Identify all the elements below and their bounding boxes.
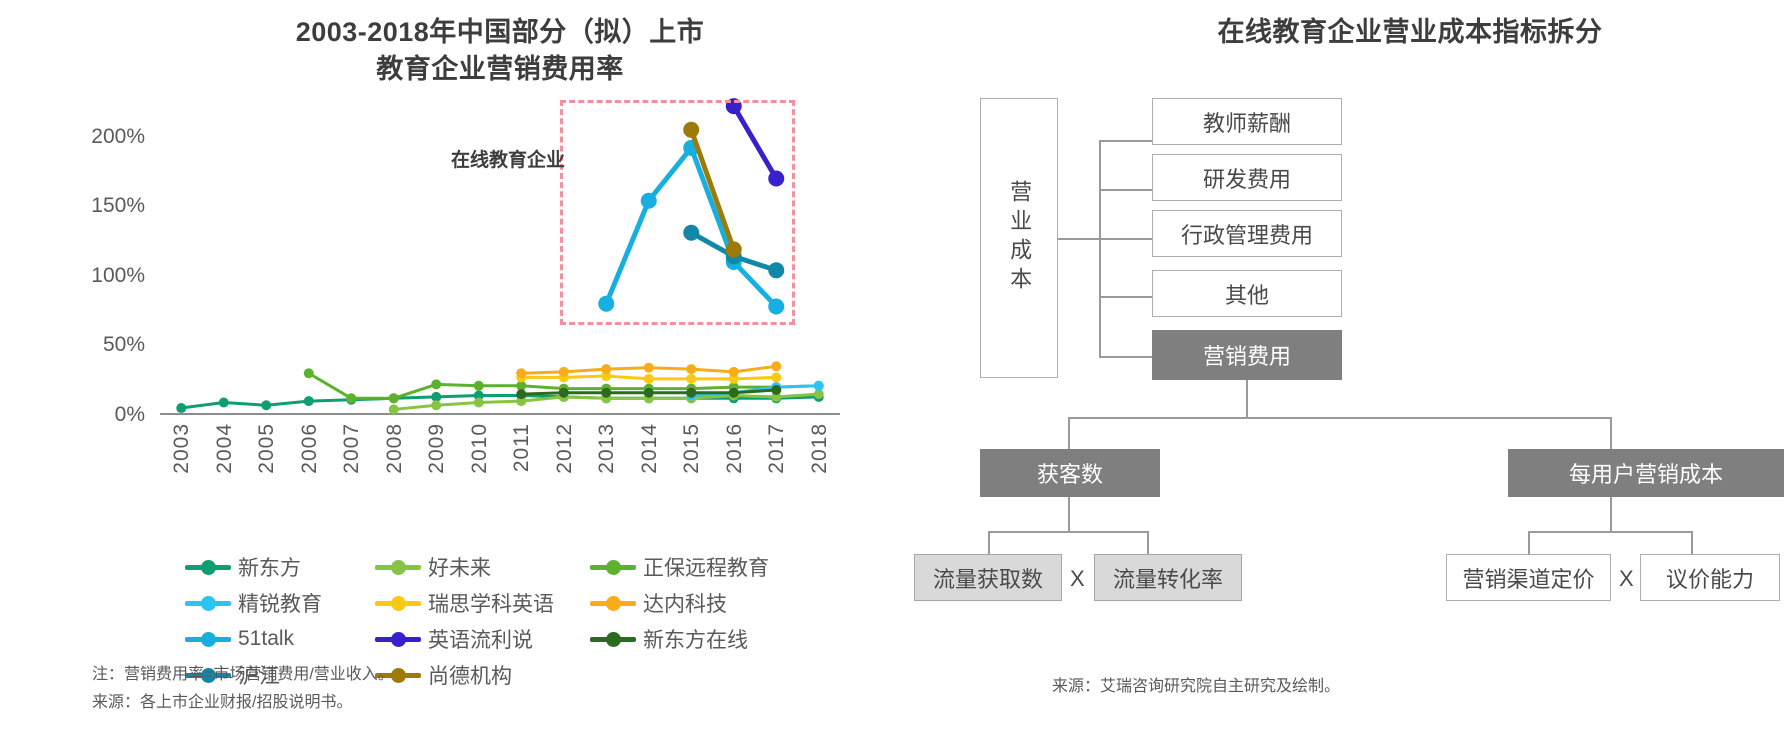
connector-root-vertical — [1099, 140, 1101, 356]
y-axis-tick: 200% — [35, 125, 145, 149]
y-axis-tick: 50% — [35, 333, 145, 357]
connector-level3-r1-down — [1528, 531, 1530, 555]
x-axis-tick: 2007 — [340, 423, 364, 474]
connector-customer-down — [1068, 497, 1070, 532]
connector-level2-left-down — [1068, 417, 1070, 450]
legend-marker-icon — [590, 595, 636, 611]
legend-item-0[interactable]: 新东方 — [185, 552, 375, 581]
right-diagram-title: 在线教育企业营业成本指标拆分 — [1160, 14, 1660, 51]
x-axis-tick: 2014 — [638, 423, 662, 474]
legend-label: 好未来 — [428, 552, 491, 582]
connector-child-4 — [1099, 296, 1153, 298]
connector-level3-r2-down — [1691, 531, 1693, 555]
x-axis-tick: 2011 — [510, 423, 534, 472]
legend-item-1[interactable]: 好未来 — [375, 552, 590, 581]
cost-breakdown-panel: 在线教育企业营业成本指标拆分 营业成本 教师薪酬 研发费用 行政管理费用 其他 … — [980, 0, 1786, 756]
legend-item-4[interactable]: 瑞思学科英语 — [375, 588, 590, 617]
online-education-highlight-box — [560, 100, 795, 325]
x-axis-tick: 2003 — [170, 423, 194, 474]
legend-label: 正保远程教育 — [643, 552, 769, 582]
marketing-expense-chart-panel: 2003-2018年中国部分（拟）上市 教育企业营销费用率 0%50%100%1… — [0, 0, 980, 756]
diagram-root-box: 营业成本 — [980, 98, 1058, 378]
legend-marker-icon — [375, 559, 421, 575]
legend-item-8[interactable]: 新东方在线 — [590, 624, 825, 653]
connector-level3-left-bus — [988, 531, 1148, 533]
x-axis-tick: 2009 — [425, 423, 449, 474]
connector-level2-bus — [1068, 417, 1612, 419]
diagram-box-admin-expense: 行政管理费用 — [1152, 210, 1342, 257]
y-axis-tick: 150% — [35, 194, 145, 218]
diagram-box-customer-count: 获客数 — [980, 449, 1160, 497]
x-axis-tick: 2015 — [680, 423, 704, 474]
x-axis-tick: 2017 — [765, 423, 789, 474]
legend-marker-icon — [185, 595, 231, 611]
left-note-definition: 注：营销费用率=市场营销费用/营业收入。 — [92, 660, 394, 684]
legend-label: 达内科技 — [643, 588, 727, 618]
left-chart-title-line2: 教育企业营销费用率 — [150, 51, 850, 88]
connector-child-3 — [1099, 238, 1153, 240]
connector-level2-right-down — [1610, 417, 1612, 450]
legend-marker-icon — [590, 559, 636, 575]
x-axis-tick: 2018 — [808, 423, 832, 474]
diagram-box-teacher-salary: 教师薪酬 — [1152, 98, 1342, 145]
x-axis-tick: 2016 — [723, 423, 747, 474]
diagram-box-rnd-expense: 研发费用 — [1152, 154, 1342, 201]
legend-item-10[interactable]: 尚德机构 — [375, 660, 590, 689]
online-education-annotation: 在线教育企业 — [425, 145, 565, 172]
diagram-box-traffic-acquired: 流量获取数 — [914, 554, 1062, 601]
legend-label: 精锐教育 — [238, 588, 322, 618]
connector-marketing-down — [1246, 380, 1248, 418]
legend-marker-icon — [185, 559, 231, 575]
legend-item-7[interactable]: 英语流利说 — [375, 624, 590, 653]
left-chart-title: 2003-2018年中国部分（拟）上市 教育企业营销费用率 — [150, 14, 850, 89]
x-axis-tick: 2006 — [298, 423, 322, 474]
x-axis-tick: 2004 — [213, 423, 237, 474]
x-axis-tick: 2005 — [255, 423, 279, 474]
connector-child-5 — [1099, 356, 1153, 358]
legend-item-6[interactable]: 51talk — [185, 624, 375, 653]
legend-item-5[interactable]: 达内科技 — [590, 588, 825, 617]
connector-child-1 — [1099, 140, 1153, 142]
cost-breakdown-diagram: 营业成本 教师薪酬 研发费用 行政管理费用 其他 营销费用 获客数 每用户营销成… — [980, 70, 1786, 630]
x-axis-tick: 2010 — [468, 423, 492, 474]
legend-marker-icon — [185, 631, 231, 647]
x-axis-tick-labels: 2003200420052006200720082009201020112012… — [160, 415, 840, 505]
left-chart-title-line1: 2003-2018年中国部分（拟）上市 — [150, 14, 850, 51]
right-note-source: 来源：艾瑞咨询研究院自主研究及绘制。 — [1052, 672, 1340, 696]
diagram-box-marketing-expense: 营销费用 — [1152, 330, 1342, 380]
legend-label: 尚德机构 — [428, 660, 512, 690]
legend-label: 51talk — [238, 627, 294, 651]
x-axis-tick: 2008 — [383, 423, 407, 474]
connector-level3-l1-down — [988, 531, 990, 555]
operator-multiply-left: X — [1070, 566, 1085, 592]
x-axis-tick: 2012 — [553, 423, 577, 474]
left-note-source: 来源：各上市企业财报/招股说明书。 — [92, 688, 352, 712]
line-chart-plot-area: 0%50%100%150%200% 2003200420052006200720… — [160, 95, 840, 415]
diagram-box-other: 其他 — [1152, 270, 1342, 317]
diagram-box-cost-per-user: 每用户营销成本 — [1508, 449, 1784, 497]
y-axis-tick: 100% — [35, 264, 145, 288]
y-axis-tick: 0% — [35, 403, 145, 427]
x-axis-tick: 2013 — [595, 423, 619, 474]
operator-multiply-right: X — [1619, 566, 1634, 592]
legend-marker-icon — [375, 595, 421, 611]
legend-marker-icon — [590, 631, 636, 647]
connector-level3-l2-down — [1147, 531, 1149, 555]
legend-marker-icon — [375, 631, 421, 647]
legend-item-2[interactable]: 正保远程教育 — [590, 552, 825, 581]
legend-label: 新东方 — [238, 552, 301, 582]
legend-label: 英语流利说 — [428, 624, 533, 654]
connector-child-2 — [1099, 189, 1153, 191]
legend-label: 新东方在线 — [643, 624, 748, 654]
diagram-box-channel-pricing: 营销渠道定价 — [1446, 554, 1611, 601]
connector-level3-right-bus — [1528, 531, 1692, 533]
diagram-box-traffic-conversion: 流量转化率 — [1094, 554, 1242, 601]
connector-root-horizontal — [1058, 238, 1100, 240]
connector-costperuser-down — [1610, 497, 1612, 532]
legend-label: 瑞思学科英语 — [428, 588, 554, 618]
legend-item-3[interactable]: 精锐教育 — [185, 588, 375, 617]
diagram-box-bargaining-power: 议价能力 — [1640, 554, 1780, 601]
